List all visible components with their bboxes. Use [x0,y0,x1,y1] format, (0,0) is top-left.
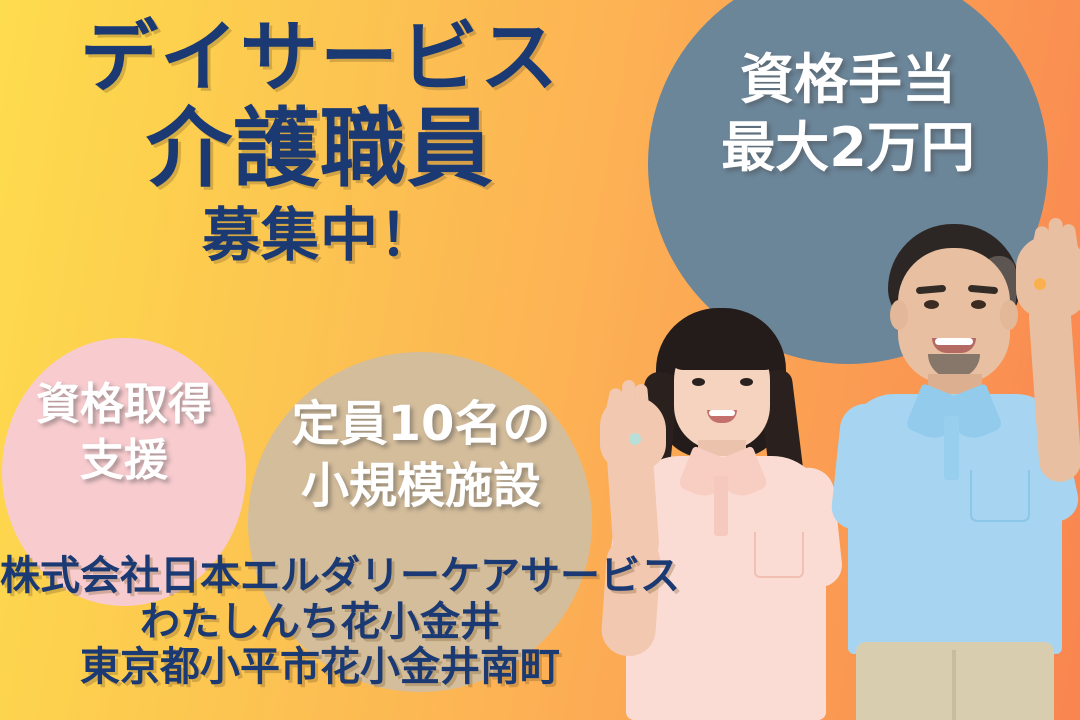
shirt-pocket [970,470,1030,522]
recruitment-poster: デイサービス 介護職員 募集中！ 資格手当 最大2万円 資格取得 支援 定員10… [0,0,1080,720]
eye-right [971,300,986,309]
headline-line-recruiting: 募集中！ [0,205,640,265]
shirt-placket [714,476,728,536]
facility-address: 東京都小平市花小金井南町 [0,647,640,689]
fringe-icon [668,322,778,370]
badge-line-2: 小規模施設 [250,462,592,512]
eye-left [692,378,705,386]
badge-line-1: 資格手当 [648,52,1048,108]
finger-icon [1047,218,1063,272]
badge-line-1: 資格取得 [0,382,248,428]
badge-line-2: 支援 [0,438,248,484]
badge-qualification-support: 資格取得 支援 [0,382,248,484]
company-info: 株式会社日本エルダリーケアサービス わたしんち花小金井 東京都小平市花小金井南町 [0,556,640,689]
badge-line-1: 定員10名の [250,400,592,450]
eye-left [924,300,939,309]
page-title: デイサービス 介護職員 募集中！ [0,18,640,265]
eye-right [740,378,753,386]
badge-small-facility: 定員10名の 小規模施設 [250,400,592,512]
shirt-pocket [754,532,804,578]
facility-name: わたしんち花小金井 [0,602,640,644]
trouser-seam [952,650,956,720]
ok-hand-gesture-icon [1022,266,1058,302]
shirt-placket [944,416,959,480]
male-caregiver-photo [836,218,1080,720]
badge-qualification-allowance: 資格手当 最大2万円 [648,52,1048,176]
headline-line-job-title: 介護職員 [0,105,640,194]
ok-hand-gesture-icon [618,422,652,456]
teeth [935,338,973,345]
badge-line-2: 最大2万円 [648,120,1048,176]
teeth [709,410,735,416]
headline-line-service-type: デイサービス [0,18,640,99]
ear-right [1000,300,1018,330]
company-name: 株式会社日本エルダリーケアサービス [0,556,640,598]
ear-left [890,300,908,330]
